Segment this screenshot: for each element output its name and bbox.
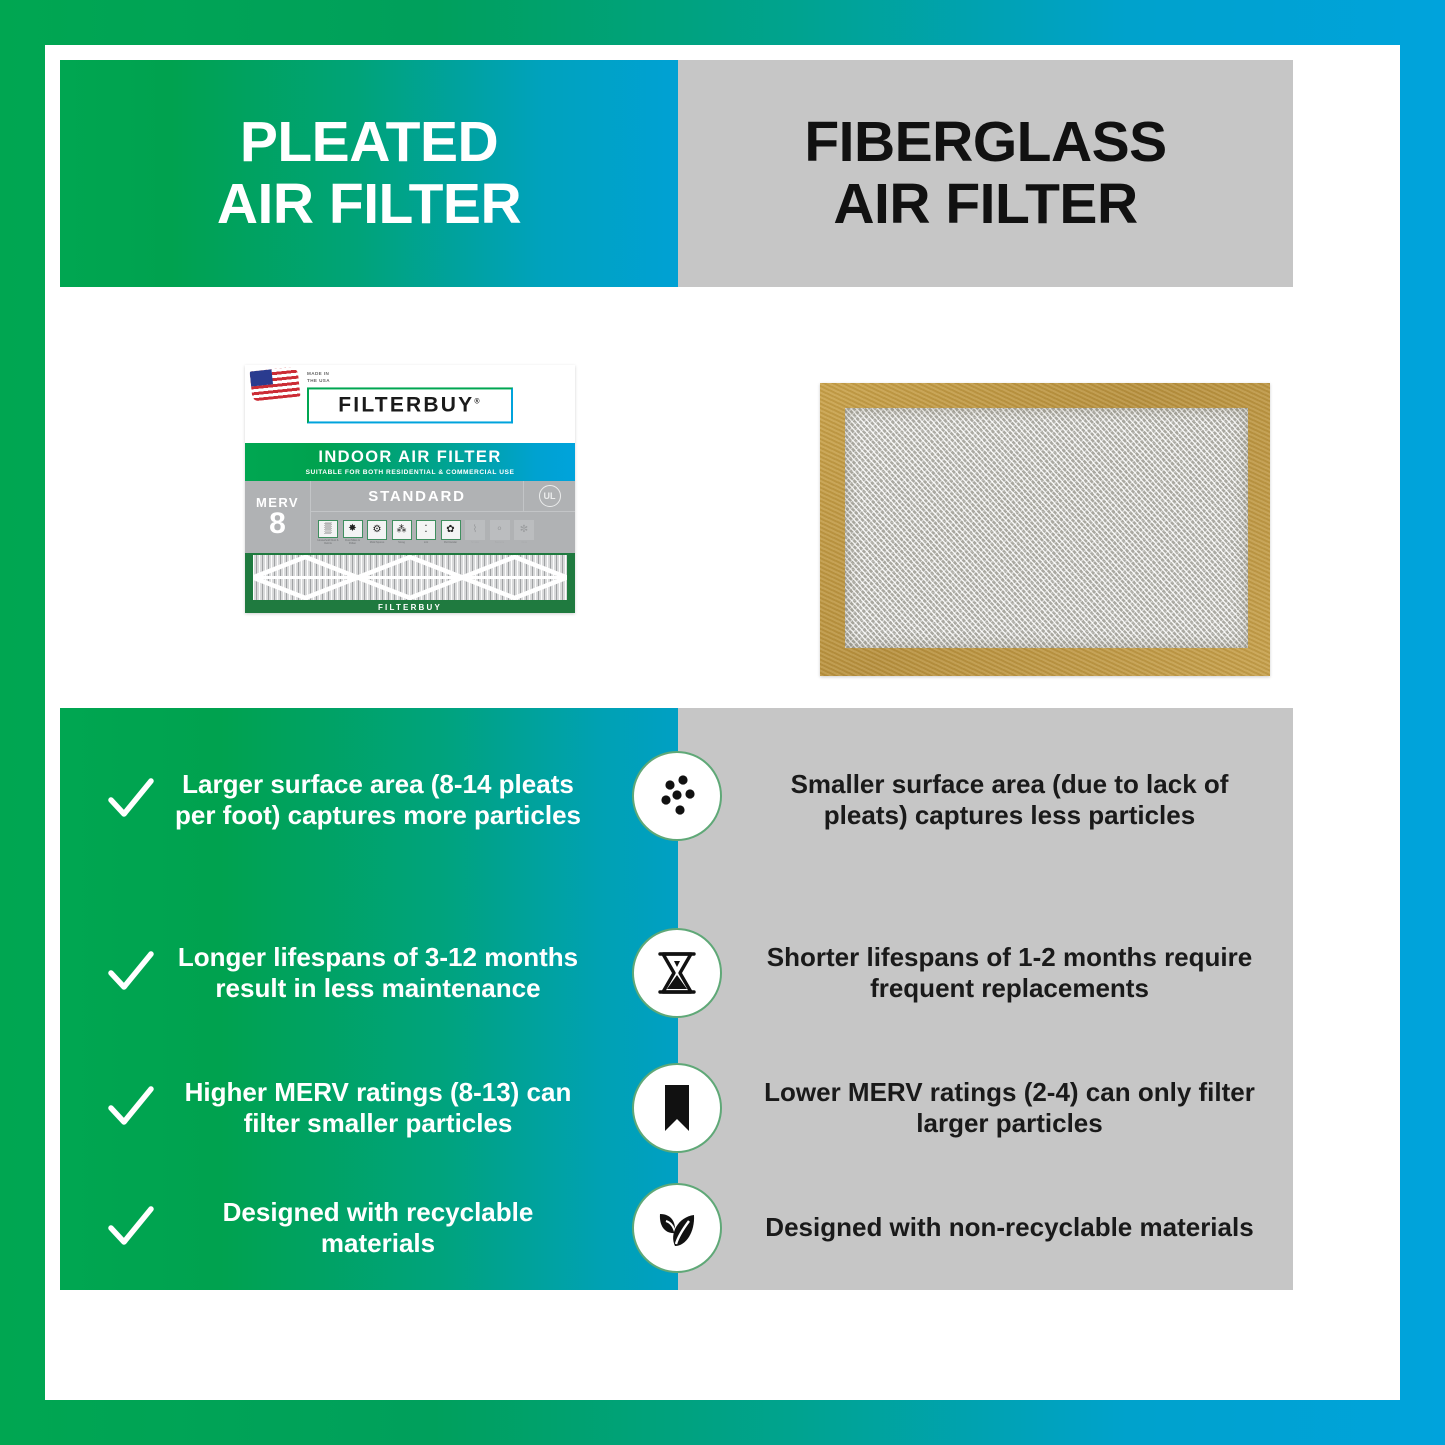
row-3-pleated-text: Higher MERV ratings (8-13) can filter sm… (164, 1077, 592, 1139)
tier-label: STANDARD (311, 481, 523, 511)
row-2-pleated: Longer lifespans of 3-12 months result i… (60, 942, 678, 1004)
fiberglass-title: FIBERGLASS AIR FILTER (804, 112, 1166, 235)
checkmark-icon (98, 1202, 164, 1254)
filterbuy-logo-text: FILTERBUY® (338, 393, 481, 417)
filterbuy-logo: FILTERBUY® (307, 387, 513, 423)
package-top: MADE INTHE USA FILTERBUY® (245, 365, 575, 443)
smog-icon: ⁂Smog (391, 520, 413, 546)
pleated-title-line2: AIR FILTER (217, 174, 521, 236)
pleated-title: PLEATED AIR FILTER (217, 112, 521, 235)
row-1-fiberglass: Smaller surface area (due to lack of ple… (678, 769, 1293, 831)
made-in-usa-label: MADE INTHE USA (307, 371, 330, 385)
row-3-pleated: Higher MERV ratings (8-13) can filter sm… (60, 1077, 678, 1139)
package-footer-brand: FILTERBUY (245, 603, 575, 612)
pleated-title-line1: PLEATED (217, 112, 521, 174)
fiberglass-title-line2: AIR FILTER (804, 174, 1166, 236)
lint-icon: ⁚Lint (415, 520, 437, 546)
package-band: INDOOR AIR FILTER SUITABLE FOR BOTH RESI… (245, 443, 575, 481)
brand-word: FILTERBUY (338, 393, 474, 416)
ul-certification: UL (523, 481, 575, 511)
fiberglass-media-texture (845, 408, 1248, 648)
band-subtitle: SUITABLE FOR BOTH RESIDENTIAL & COMMERCI… (306, 469, 515, 476)
row-4-fiberglass: Designed with non-recyclable materials (678, 1212, 1293, 1243)
checkmark-icon (98, 1082, 164, 1134)
comparison-rows: Larger surface area (8-14 pleats per foo… (60, 708, 1293, 1290)
mold-spores-icon: ⚙Mold Spores (366, 520, 388, 546)
household-dust-icon: ▒Household Dust & Debris (317, 520, 339, 546)
package-spec-right: STANDARD UL ▒Household Dust & Debris ✸Du… (311, 481, 575, 553)
row-2-fiberglass-text: Shorter lifespans of 1-2 months require … (764, 942, 1255, 1004)
ul-mark-icon: UL (539, 485, 561, 507)
pet-dander-icon: ✿Pet Dander (440, 520, 462, 546)
smoke-icon: ⌇Smoke (464, 520, 486, 546)
ribbon-bookmark-icon (632, 1063, 722, 1153)
comparison-header: PLEATED AIR FILTER FIBERGLASS AIR FILTER (60, 60, 1293, 287)
row-1-pleated-text: Larger surface area (8-14 pleats per foo… (164, 769, 592, 831)
virus-icon: ✼Virus (513, 520, 535, 546)
row-4-pleated-text: Designed with recyclable materials (164, 1197, 592, 1259)
product-images: MADE INTHE USA FILTERBUY® INDOOR AIR FIL… (60, 287, 1293, 693)
tier-row: STANDARD UL (311, 481, 575, 512)
bacteria-icon: ⚬Bacteria (489, 520, 511, 546)
row-4-pleated: Designed with recyclable materials (60, 1197, 678, 1259)
merv-badge: MERV 8 (245, 481, 311, 553)
checkmark-icon (98, 947, 164, 999)
hourglass-icon (632, 928, 722, 1018)
capture-icon-row: ▒Household Dust & Debris ✸Dust Mites & P… (311, 512, 575, 553)
row-3-fiberglass: Lower MERV ratings (2-4) can only filter… (678, 1077, 1293, 1139)
fiberglass-filter-product-image (820, 383, 1270, 676)
pleat-media-window: FILTERBUY (245, 553, 575, 613)
header-fiberglass: FIBERGLASS AIR FILTER (678, 60, 1293, 287)
support-lattice-icon (253, 555, 567, 600)
dust-mites-icon: ✸Dust Mites & Pollen (342, 520, 364, 546)
row-3-fiberglass-text: Lower MERV ratings (2-4) can only filter… (764, 1077, 1255, 1139)
registered-mark: ® (474, 398, 481, 405)
row-1-pleated: Larger surface area (8-14 pleats per foo… (60, 769, 678, 831)
checkmark-icon (98, 774, 164, 826)
usa-flag-icon (250, 367, 301, 402)
leaves-icon (632, 1183, 722, 1273)
package-spec-area: MERV 8 STANDARD UL ▒Household Dust & Deb… (245, 481, 575, 553)
row-4-fiberglass-text: Designed with non-recyclable materials (764, 1212, 1255, 1243)
merv-value: 8 (269, 510, 286, 539)
row-2-fiberglass: Shorter lifespans of 1-2 months require … (678, 942, 1293, 1004)
header-pleated: PLEATED AIR FILTER (60, 60, 678, 287)
band-title: INDOOR AIR FILTER (318, 448, 501, 467)
fiberglass-title-line1: FIBERGLASS (804, 112, 1166, 174)
row-1-fiberglass-text: Smaller surface area (due to lack of ple… (764, 769, 1255, 831)
particles-icon (632, 751, 722, 841)
row-2-pleated-text: Longer lifespans of 3-12 months result i… (164, 942, 592, 1004)
pleated-filter-product-image: MADE INTHE USA FILTERBUY® INDOOR AIR FIL… (245, 365, 575, 613)
